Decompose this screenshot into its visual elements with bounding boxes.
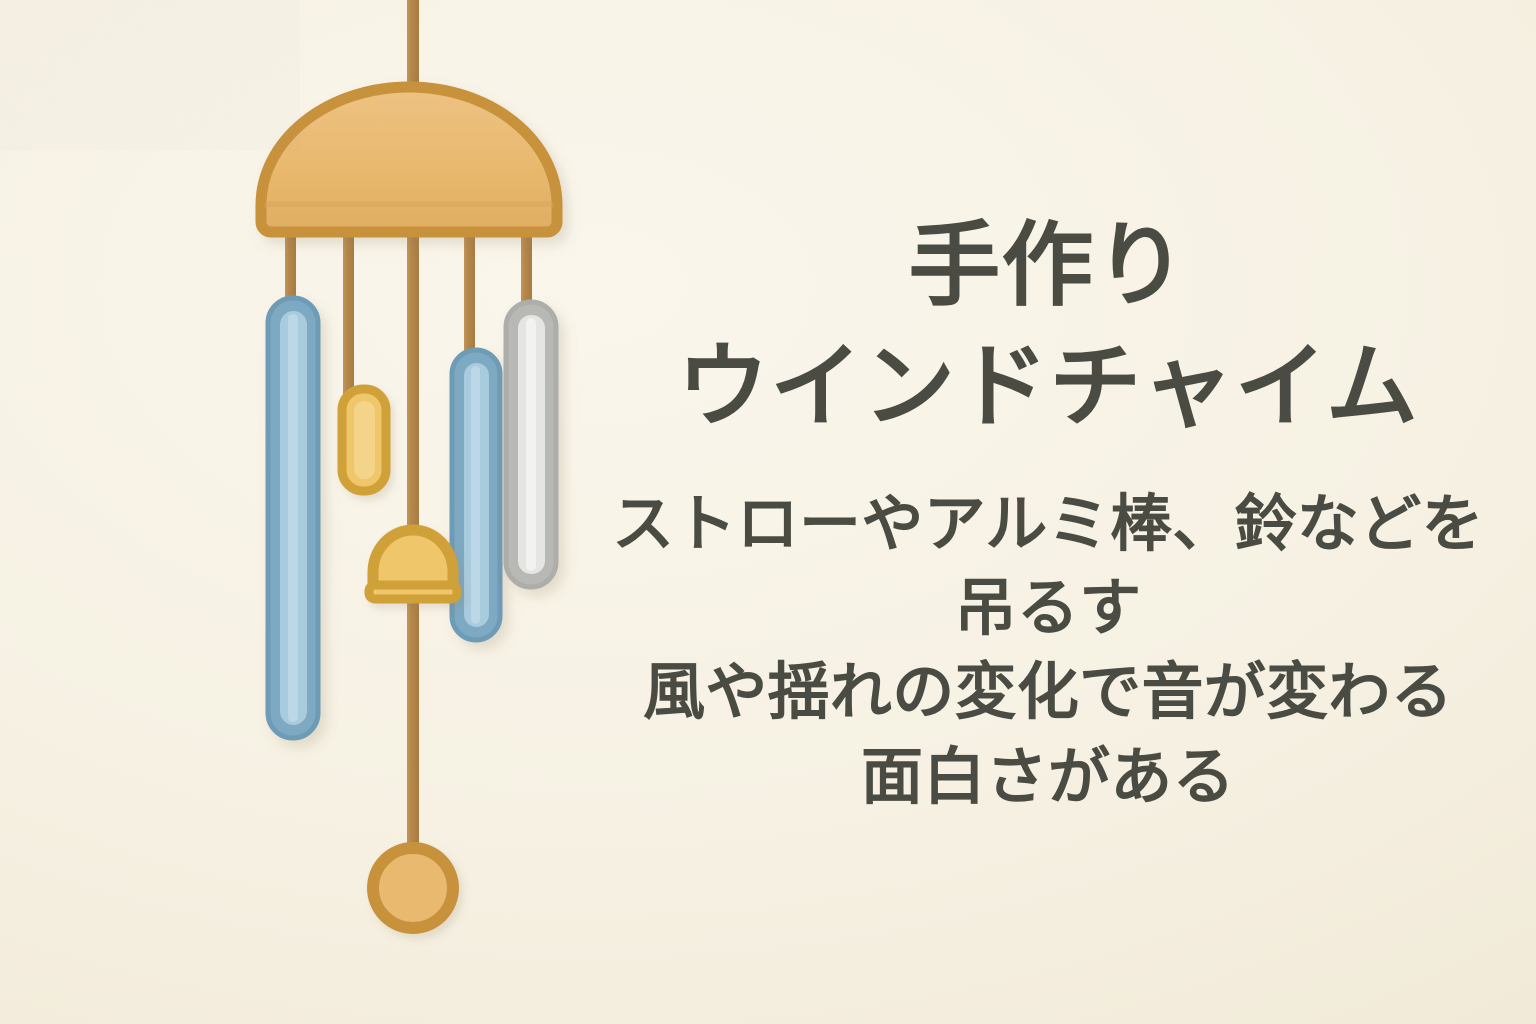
poster-text-block: 手作り ウインドチャイム ストローやアルミ棒、鈴などを 吊るす 風や揺れの変化で… (560, 0, 1536, 1024)
wind-catcher-disc (373, 848, 453, 928)
title-line-1: 手作り (677, 205, 1419, 326)
bell (369, 530, 457, 599)
chime-tube-gold-short (342, 389, 386, 491)
page-body: ストローやアルミ棒、鈴などを 吊るす 風や揺れの変化で音が変わる 面白さがある (612, 482, 1484, 819)
body-line-1: ストローやアルミ棒、鈴などを (612, 482, 1484, 566)
canopy-dome (255, 87, 565, 232)
chime-tube-blue-long (268, 298, 318, 738)
body-line-4: 面白さがある (612, 735, 1484, 819)
chime-tube-silver (506, 302, 556, 587)
title-line-2: ウインドチャイム (677, 326, 1419, 447)
page-title: 手作り ウインドチャイム (677, 205, 1419, 448)
body-line-2: 吊るす (612, 566, 1484, 650)
body-line-3: 風や揺れの変化で音が変わる (612, 650, 1484, 734)
poster-canvas: 手作り ウインドチャイム ストローやアルミ棒、鈴などを 吊るす 風や揺れの変化で… (0, 0, 1536, 1024)
